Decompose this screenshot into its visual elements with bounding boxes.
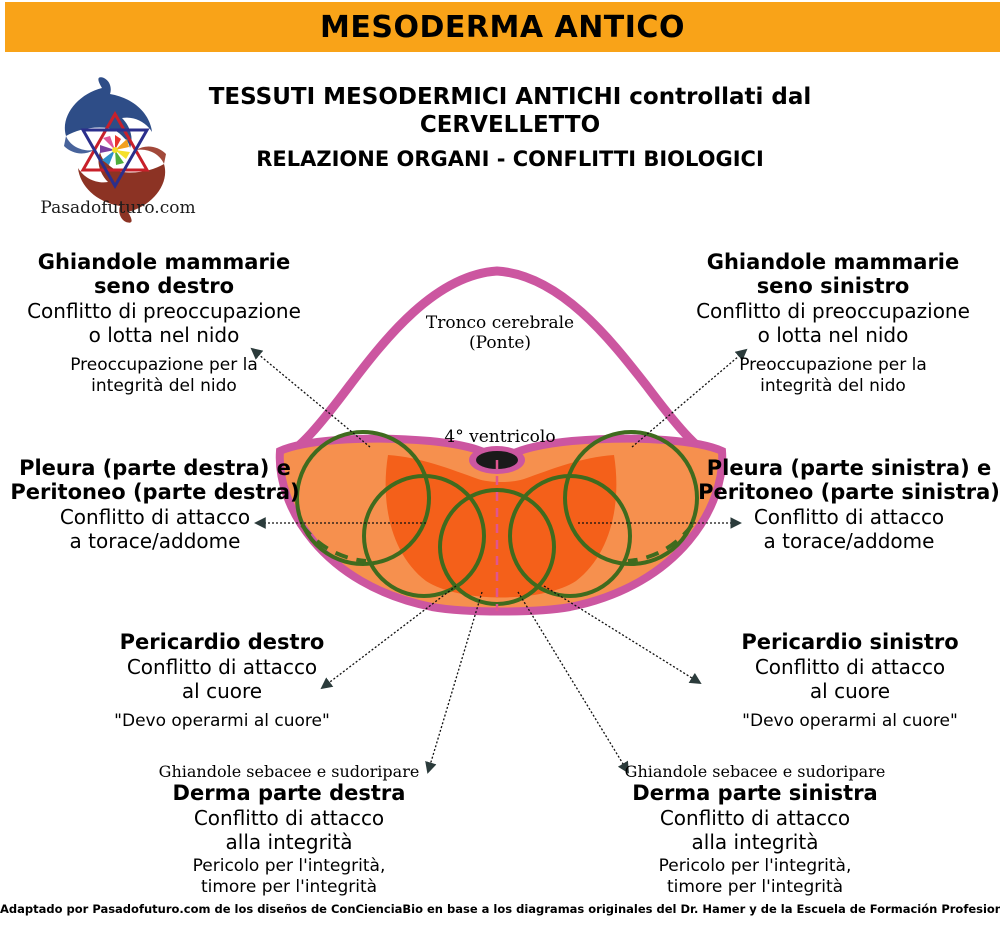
logo-caption: Pasadofuturo.com <box>18 198 218 218</box>
label-pericardium-right: Pericardio destro Conflitto di attacco a… <box>62 630 382 732</box>
footer-credit: Adaptado por Pasadofuturo.com de los dis… <box>0 902 1000 916</box>
label-pericardium-left: Pericardio sinistro Conflitto di attacco… <box>700 630 1000 732</box>
brainstem-label: Tronco cerebrale (Ponte) <box>410 313 590 353</box>
label-pericardium-right-organ: Pericardio destro <box>62 630 382 654</box>
label-derma-right-organ: Derma parte destra <box>130 781 448 805</box>
ventricle-label: 4° ventricolo <box>420 427 580 447</box>
label-mammary-right-conflict: Conflitto di preoccupazione o lotta nel … <box>4 299 324 347</box>
label-pleura-left-conflict: Conflitto di attacco a torace/addome <box>698 505 1000 553</box>
label-pericardium-right-note: "Devo operarmi al cuore" <box>62 711 382 732</box>
label-pleura-right: Pleura (parte destra) e Peritoneo (parte… <box>2 456 308 553</box>
diagram-canvas: MESODERMA ANTICO <box>0 0 1000 929</box>
header-banner: MESODERMA ANTICO <box>5 2 1000 52</box>
page-title: MESODERMA ANTICO <box>5 2 1000 52</box>
subtitle-block: TESSUTI MESODERMICI ANTICHI controllati … <box>180 83 840 171</box>
label-mammary-right-note: Preoccupazione per la integrità del nido <box>4 355 324 397</box>
label-pericardium-left-organ: Pericardio sinistro <box>700 630 1000 654</box>
label-derma-left-conflict: Conflitto di attacco alla integrità <box>600 806 910 854</box>
color-wheel-icon <box>100 135 130 165</box>
label-pericardium-left-note: "Devo operarmi al cuore" <box>700 711 1000 732</box>
label-mammary-right: Ghiandole mammarie seno destro Conflitto… <box>4 250 324 397</box>
label-derma-right-pre: Ghiandole sebacee e sudoripare <box>130 762 448 781</box>
label-derma-right: Ghiandole sebacee e sudoripare Derma par… <box>130 762 448 898</box>
label-pleura-right-organ: Pleura (parte destra) e Peritoneo (parte… <box>2 456 308 504</box>
label-pleura-left: Pleura (parte sinistra) e Peritoneo (par… <box>698 456 1000 553</box>
label-derma-right-conflict: Conflitto di attacco alla integrità <box>130 806 448 854</box>
label-pleura-right-conflict: Conflitto di attacco a torace/addome <box>2 505 308 553</box>
label-derma-left-note: Pericolo per l'integrità, timore per l'i… <box>600 856 910 898</box>
subtitle-sub: RELAZIONE ORGANI - CONFLITTI BIOLOGICI <box>180 147 840 171</box>
label-pericardium-right-conflict: Conflitto di attacco al cuore <box>62 655 382 703</box>
label-derma-left-organ: Derma parte sinistra <box>600 781 910 805</box>
label-derma-right-note: Pericolo per l'integrità, timore per l'i… <box>130 856 448 898</box>
label-mammary-left-note: Preoccupazione per la integrità del nido <box>668 355 998 397</box>
label-derma-left-pre: Ghiandole sebacee e sudoripare <box>600 762 910 781</box>
label-pericardium-left-conflict: Conflitto di attacco al cuore <box>700 655 1000 703</box>
subtitle-main: TESSUTI MESODERMICI ANTICHI controllati … <box>180 83 840 139</box>
label-mammary-right-organ: Ghiandole mammarie seno destro <box>4 250 324 298</box>
label-mammary-left-conflict: Conflitto di preoccupazione o lotta nel … <box>668 299 998 347</box>
label-pleura-left-organ: Pleura (parte sinistra) e Peritoneo (par… <box>698 456 1000 504</box>
label-mammary-left: Ghiandole mammarie seno sinistro Conflit… <box>668 250 998 397</box>
label-derma-left: Ghiandole sebacee e sudoripare Derma par… <box>600 762 910 898</box>
label-mammary-left-organ: Ghiandole mammarie seno sinistro <box>668 250 998 298</box>
